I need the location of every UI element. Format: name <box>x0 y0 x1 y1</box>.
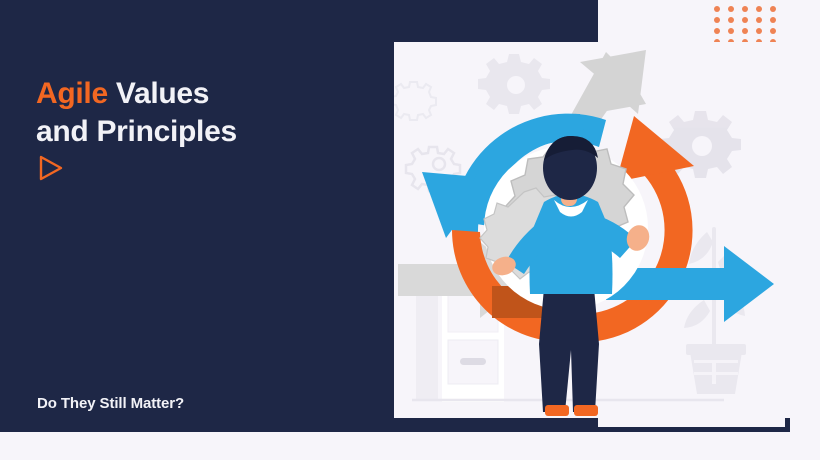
person-shoe <box>574 405 598 416</box>
grid-dot <box>728 6 734 12</box>
grid-dot <box>756 17 762 23</box>
grid-dot <box>714 28 720 34</box>
slide-subtitle: Do They Still Matter? <box>37 395 184 412</box>
grid-dot <box>728 17 734 23</box>
grid-dot <box>756 28 762 34</box>
grid-dot <box>770 6 776 12</box>
grid-dot <box>742 17 748 23</box>
title-accent-word: Agile <box>36 77 108 110</box>
person-shoe <box>545 405 569 416</box>
grid-dot <box>742 28 748 34</box>
background-gear <box>478 54 550 114</box>
page-title: Agile Valuesand Principles <box>36 75 376 151</box>
title-line2: and Principles <box>36 115 237 148</box>
grid-dot <box>770 17 776 23</box>
agile-cycle-illustration <box>394 42 790 418</box>
grid-dot <box>742 6 748 12</box>
grid-dot <box>714 17 720 23</box>
grid-dot <box>770 28 776 34</box>
title-line1-rest: Values <box>108 77 209 110</box>
grid-dot <box>714 6 720 12</box>
grid-dot <box>728 28 734 34</box>
grid-dot <box>756 6 762 12</box>
play-triangle-icon <box>37 154 65 182</box>
slide-canvas: Agile Valuesand Principles Do They Still… <box>0 0 820 460</box>
